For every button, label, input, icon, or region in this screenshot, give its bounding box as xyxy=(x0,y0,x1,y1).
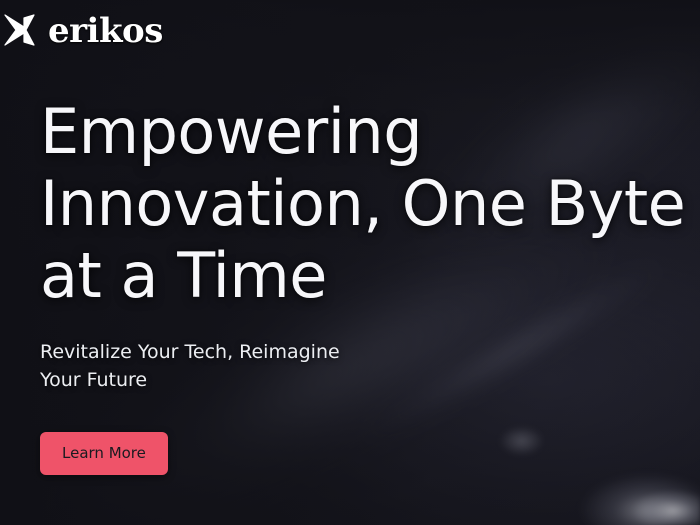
site-logo[interactable]: erikos xyxy=(4,12,163,48)
headline-line-2: Innovation, One Byte xyxy=(40,168,680,240)
headline-line-1: Empowering xyxy=(40,96,680,168)
hero-subheadline: Revitalize Your Tech, Reimagine Your Fut… xyxy=(40,338,385,394)
hero-headline: Empowering Innovation, One Byte at a Tim… xyxy=(40,96,680,312)
hero-content: Empowering Innovation, One Byte at a Tim… xyxy=(40,96,680,475)
hero-section: erikos Empowering Innovation, One Byte a… xyxy=(0,0,700,525)
learn-more-button[interactable]: Learn More xyxy=(40,432,168,475)
headline-line-3: at a Time xyxy=(40,240,680,312)
bowtie-x-icon xyxy=(4,12,50,48)
logo-wordmark: erikos xyxy=(48,14,163,48)
